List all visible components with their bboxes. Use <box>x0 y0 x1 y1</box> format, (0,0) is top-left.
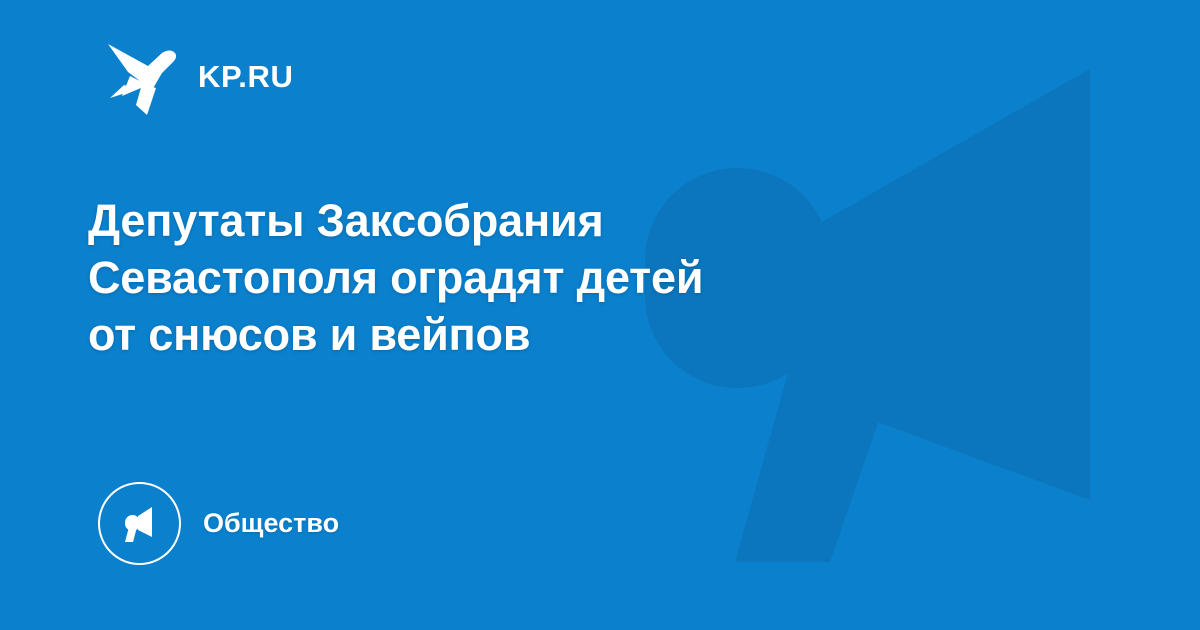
share-card: KP.RU Депутаты Заксобрания Севастополя о… <box>0 0 1200 630</box>
headline-line-3: от снюсов и вейпов <box>88 306 918 363</box>
headline-line-1: Депутаты Заксобрания <box>88 192 918 249</box>
headline-line-2: Севастополя оградят детей <box>88 249 918 306</box>
category-icon-circle[interactable] <box>98 482 181 565</box>
megaphone-icon <box>118 502 162 546</box>
brand-name: KP.RU <box>198 61 293 92</box>
swallow-bird-icon <box>104 36 178 116</box>
page-title: Депутаты Заксобрания Севастополя оградят… <box>88 192 918 363</box>
category-badge-group[interactable]: Общество <box>98 482 339 565</box>
category-label: Общество <box>203 510 339 537</box>
brand-logo[interactable]: KP.RU <box>104 36 293 116</box>
